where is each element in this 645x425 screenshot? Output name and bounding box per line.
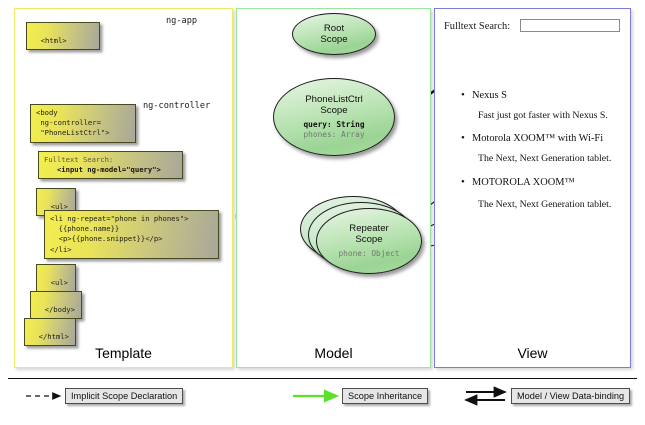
phone-name-2: MOTOROLA XOOM™ [472,177,575,188]
scope-root-title: RootScope [320,23,347,45]
scope-prop-phone: phone: Object [338,249,399,259]
code-box-html-open: <html> [26,22,100,50]
model-panel: Model [236,8,431,368]
fulltext-search-label: Fulltext Search: [444,21,510,32]
panel-label-view: View [435,345,630,361]
view-panel: View [434,8,631,368]
scope-repeater-title: RepeaterScope [349,223,388,245]
panel-label-template: Template [15,345,232,361]
code-box-body-open: <body ng-controller= "PhoneListCtrl"> [30,104,136,143]
code-box-html-close: </html> [24,318,76,346]
scope-repeater[interactable]: RepeaterScope phone: Object [316,208,422,274]
scope-prop-phones: phones: Array [303,130,364,140]
legend-implicit-scope-declaration: Implicit Scope Declaration [65,388,183,404]
code-box-body-close: </body> [30,291,82,319]
legend-model-view-data-binding: Model / View Data-binding [511,388,630,404]
phone-name-0: Nexus S [472,90,507,101]
phone-name-1: Motorola XOOM™ with Wi-Fi [472,133,603,144]
edge-label-ng-app: ng-app [166,16,197,26]
legend-scope-inheritance: Scope Inheritance [342,388,428,404]
code-box-li-ngrepeat: <li ng-repeat="phone in phones"> {{phone… [44,210,219,259]
phone-snippet-1: The Next, Next Generation tablet. [478,153,611,164]
fulltext-search-input[interactable] [520,19,620,32]
phone-snippet-0: Fast just got faster with Nexus S. [478,110,608,121]
code-box-fulltext-search: Fulltext Search: <input ng-model="query"… [38,151,183,179]
scope-phonelistctrl-props: query: String phones: Array [303,120,364,140]
scope-phonelistctrl[interactable]: PhoneListCtrlScope query: String phones:… [273,78,395,156]
code-box-ul-close: <ul> [36,264,76,292]
scope-prop-query: query: String [303,120,364,130]
edge-label-ng-controller: ng-controller [143,101,210,111]
scope-repeater-props: phone: Object [338,249,399,259]
scope-phonelistctrl-title: PhoneListCtrlScope [305,94,363,116]
panel-label-model: Model [237,345,430,361]
scope-root[interactable]: RootScope [292,13,376,55]
phone-snippet-2: The Next, Next Generation tablet. [478,199,611,210]
legend-divider [8,378,637,379]
